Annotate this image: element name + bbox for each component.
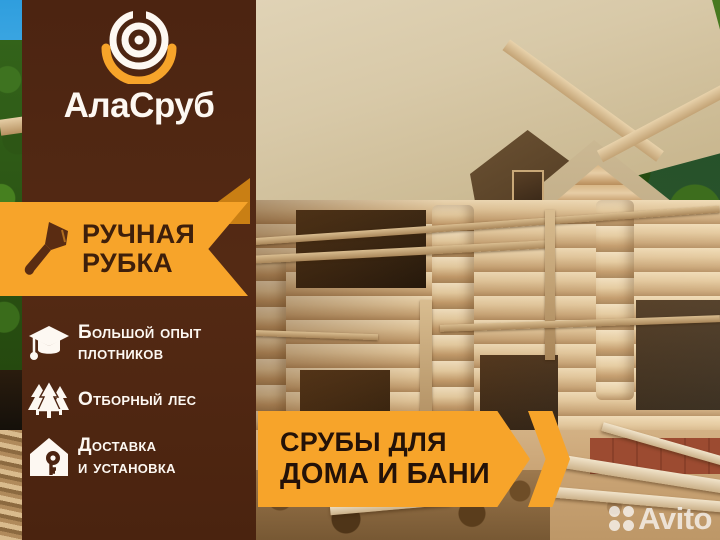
scaffold-post [545,210,555,360]
avito-label: Avito [638,503,712,534]
headline-banner: СРУБЫ ДЛЯ ДОМА И БАНИ [258,411,530,507]
graduation-cap-icon [26,322,72,364]
brand-logo: АлаСруб [22,10,256,150]
feature-label-delivery: Доставка и установка [78,435,176,478]
feature-label-timber: Отборный лес [78,389,196,410]
axe-icon [18,217,74,282]
house-key-icon [26,435,72,479]
feature-list: Большой опыт плотников Отборный лес [26,322,256,493]
feature-label-experience: Большой опыт плотников [78,322,201,365]
target-rings-icon [100,10,178,84]
hand-cut-line2: РУБКА [82,249,195,278]
feature-line1: Доставка [78,435,176,456]
feature-line1: Отборный лес [78,389,196,410]
hand-cut-line1: РУЧНАЯ [82,220,195,249]
avito-dots-icon [609,506,634,531]
feature-line1: Большой опыт [78,322,201,343]
headline-line1: СРУБЫ ДЛЯ [280,428,530,457]
feature-line2: и установка [78,457,176,478]
headline-line2: ДОМА И БАНИ [280,459,530,490]
avito-watermark: Avito [609,503,712,534]
advertisement-banner: АлаСруб РУЧНАЯ РУБКА [0,0,720,540]
feature-item-delivery: Доставка и установка [26,435,256,479]
brand-name: АлаСруб [64,88,215,123]
fir-trees-icon [26,379,72,421]
photo-sliver-logs [0,430,24,540]
feature-item-timber: Отборный лес [26,379,256,421]
feature-line2: плотников [78,343,201,364]
feature-item-experience: Большой опыт плотников [26,322,256,365]
photo-sliver-dark [0,370,24,432]
hand-cut-text: РУЧНАЯ РУБКА [82,220,195,278]
